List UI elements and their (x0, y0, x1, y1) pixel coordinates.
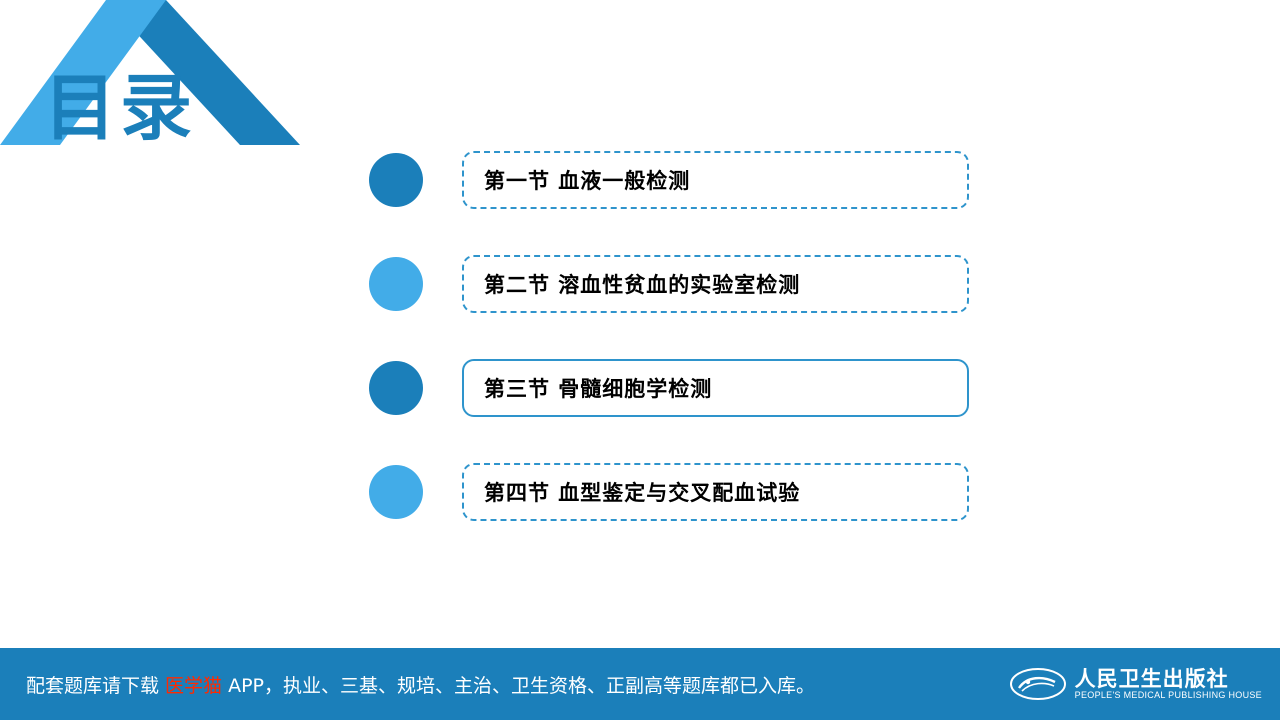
bullet-icon (369, 257, 423, 311)
footer-text-after: APP，执业、三基、规培、主治、卫生资格、正副高等题库都已入库。 (222, 675, 815, 697)
publisher-emblem-icon (1009, 664, 1067, 704)
footer-app-name: 医学猫 (165, 675, 222, 697)
footer-promo-text: 配套题库请下载 医学猫 APP，执业、三基、规培、主治、卫生资格、正副高等题库都… (26, 671, 815, 698)
toc-item-box[interactable]: 第三节 骨髓细胞学检测 (462, 359, 969, 417)
publisher-name-block: 人民卫生出版社 PEOPLE'S MEDICAL PUBLISHING HOUS… (1075, 668, 1262, 701)
toc-list: 第一节 血液一般检测 第二节 溶血性贫血的实验室检测 第三节 骨髓细胞学检测 第… (369, 150, 969, 522)
footer-bar: 配套题库请下载 医学猫 APP，执业、三基、规培、主治、卫生资格、正副高等题库都… (0, 648, 1280, 720)
bullet-icon (369, 361, 423, 415)
footer-text-before: 配套题库请下载 (26, 675, 165, 697)
toc-item-label: 第四节 血型鉴定与交叉配血试验 (464, 477, 800, 507)
list-item[interactable]: 第四节 血型鉴定与交叉配血试验 (369, 462, 969, 522)
page-title: 目录 (44, 72, 196, 144)
toc-item-box[interactable]: 第四节 血型鉴定与交叉配血试验 (462, 463, 969, 521)
toc-item-label: 第二节 溶血性贫血的实验室检测 (464, 269, 800, 299)
bullet-icon (369, 153, 423, 207)
toc-item-box[interactable]: 第一节 血液一般检测 (462, 151, 969, 209)
list-item[interactable]: 第一节 血液一般检测 (369, 150, 969, 210)
list-item[interactable]: 第三节 骨髓细胞学检测 (369, 358, 969, 418)
publisher-name-en: PEOPLE'S MEDICAL PUBLISHING HOUSE (1075, 690, 1262, 701)
toc-item-label: 第一节 血液一般检测 (464, 165, 690, 195)
toc-item-label: 第三节 骨髓细胞学检测 (464, 373, 712, 403)
bullet-icon (369, 465, 423, 519)
toc-item-box[interactable]: 第二节 溶血性贫血的实验室检测 (462, 255, 969, 313)
list-item[interactable]: 第二节 溶血性贫血的实验室检测 (369, 254, 969, 314)
publisher-logo: 人民卫生出版社 PEOPLE'S MEDICAL PUBLISHING HOUS… (1009, 664, 1262, 704)
publisher-name-cn: 人民卫生出版社 (1075, 668, 1262, 690)
